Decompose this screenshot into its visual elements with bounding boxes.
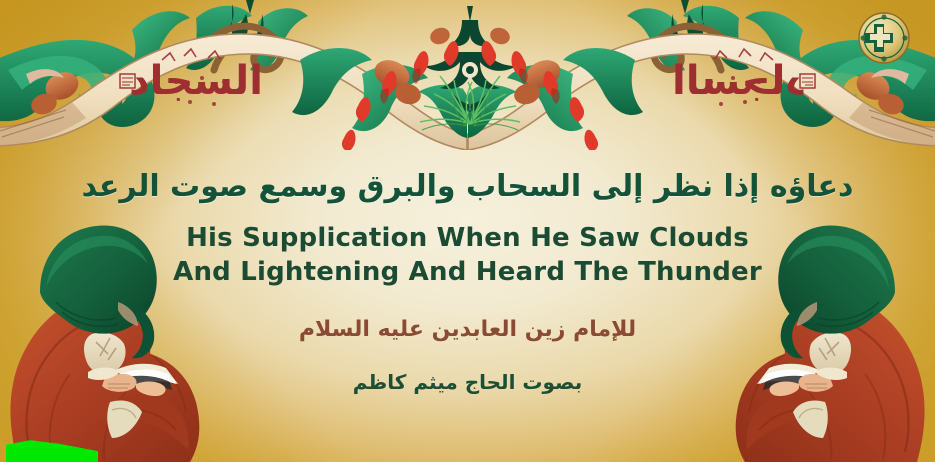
ornamental-header-band: السجاد xyxy=(0,0,935,150)
title-english-line2: And Lightening And Heard The Thunder xyxy=(0,255,935,289)
title-arabic: دعاؤه إذا نظر إلى السحاب والبرق وسمع صوت… xyxy=(0,170,935,205)
author-attribution: للإمام زين العابدين عليه السلام xyxy=(0,317,935,343)
reciter-attribution: بصوت الحاج ميثم كاظم xyxy=(0,370,935,394)
title-english: His Supplication When He Saw Clouds And … xyxy=(0,221,935,290)
supplication-text-block: دعاؤه إذا نظر إلى السحاب والبرق وسمع صوت… xyxy=(0,170,935,394)
rosette-medallion xyxy=(859,13,909,63)
title-english-line1: His Supplication When He Saw Clouds xyxy=(0,221,935,255)
banner-canvas: السجاد xyxy=(0,0,935,462)
